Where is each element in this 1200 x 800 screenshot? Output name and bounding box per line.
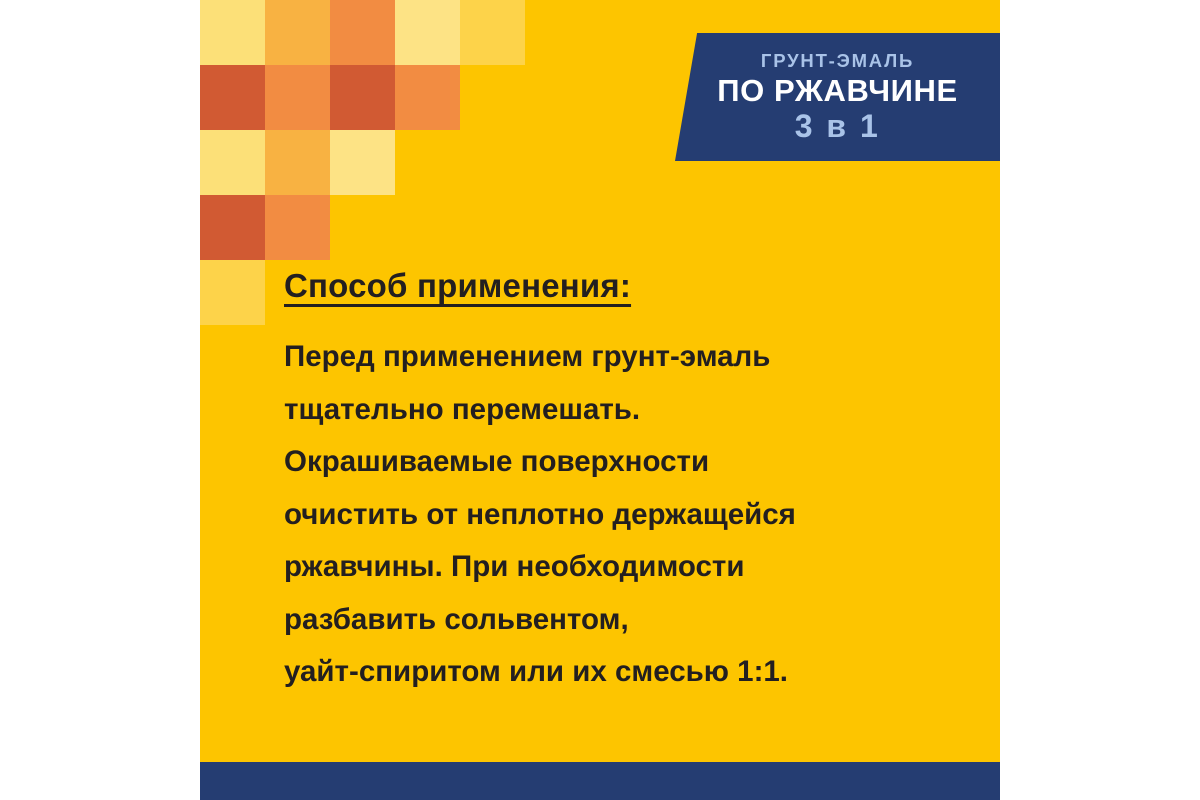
mosaic-cell bbox=[330, 0, 395, 65]
mosaic-cell bbox=[200, 260, 265, 325]
poster-panel: ГРУНТ-ЭМАЛЬ ПО РЖАВЧИНЕ 3 в 1 Способ при… bbox=[200, 0, 1000, 762]
mosaic-cell bbox=[265, 130, 330, 195]
mosaic-cell bbox=[200, 195, 265, 260]
instruction-line: Перед применением грунт-эмаль bbox=[284, 342, 964, 372]
mosaic-cell bbox=[330, 65, 395, 130]
mosaic-cell bbox=[265, 65, 330, 130]
banner-line-application: ПО РЖАВЧИНЕ bbox=[717, 75, 958, 106]
instruction-line: уайт-спиритом или их смесью 1:1. bbox=[284, 657, 964, 687]
mosaic-cell bbox=[200, 130, 265, 195]
product-banner: ГРУНТ-ЭМАЛЬ ПО РЖАВЧИНЕ 3 в 1 bbox=[675, 33, 1000, 161]
mosaic-cell bbox=[200, 65, 265, 130]
mosaic-cell bbox=[395, 0, 460, 65]
mosaic-cell bbox=[330, 130, 395, 195]
mosaic-cell bbox=[395, 65, 460, 130]
poster-canvas: ГРУНТ-ЭМАЛЬ ПО РЖАВЧИНЕ 3 в 1 Способ при… bbox=[0, 0, 1200, 800]
mosaic-cell bbox=[460, 0, 525, 65]
mosaic-cell bbox=[265, 195, 330, 260]
instruction-line: ржавчины. При необходимости bbox=[284, 552, 964, 582]
banner-line-three-in-one: 3 в 1 bbox=[795, 110, 881, 142]
instruction-line: тщательно перемешать. bbox=[284, 395, 964, 425]
instruction-text: Перед применением грунт-эмальтщательно п… bbox=[284, 342, 964, 687]
footer-bar bbox=[200, 762, 1000, 800]
banner-line-product-type: ГРУНТ-ЭМАЛЬ bbox=[761, 52, 914, 71]
instruction-line: Окрашиваемые поверхности bbox=[284, 447, 964, 477]
instruction-line: разбавить сольвентом, bbox=[284, 605, 964, 635]
mosaic-cell bbox=[265, 0, 330, 65]
page-title: Способ применения: bbox=[284, 268, 964, 304]
mosaic-cell bbox=[200, 0, 265, 65]
instruction-line: очистить от неплотно держащейся bbox=[284, 500, 964, 530]
instruction-block: Способ применения: Перед применением гру… bbox=[284, 268, 964, 687]
